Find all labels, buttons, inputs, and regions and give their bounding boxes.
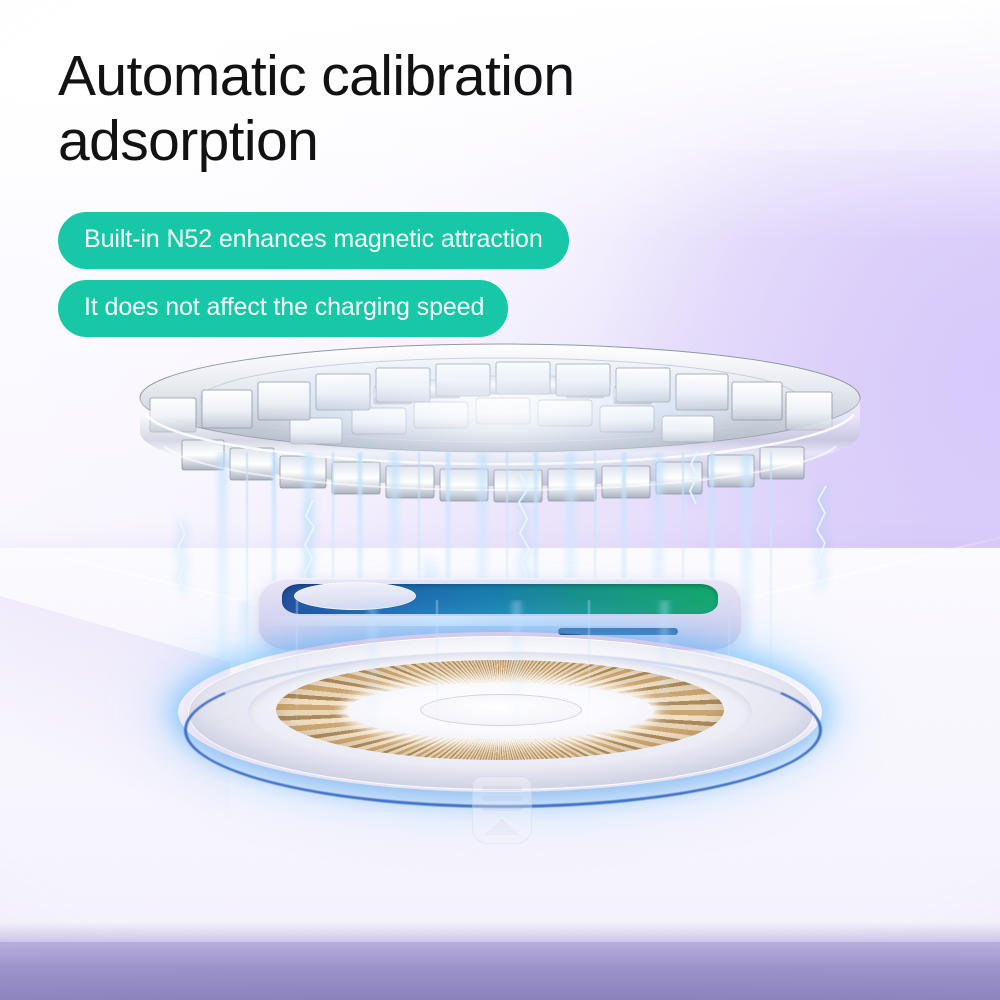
headline-line-2: adsorption [58, 109, 818, 174]
badge-charging-speed: It does not affect the charging speed [58, 280, 508, 337]
embossed-emblem [472, 776, 532, 844]
feature-badges: Built-in N52 enhances magnetic attractio… [58, 212, 1000, 348]
headline-line-1: Automatic calibration [58, 44, 575, 108]
light-beams-front [200, 600, 800, 730]
headline: Automatic calibration adsorption [58, 44, 818, 174]
product-marketing-image: Automatic calibration adsorption Built-i… [0, 0, 1000, 1000]
floor-band [0, 942, 1000, 1000]
badge-magnetic-attraction: Built-in N52 enhances magnetic attractio… [58, 212, 569, 269]
